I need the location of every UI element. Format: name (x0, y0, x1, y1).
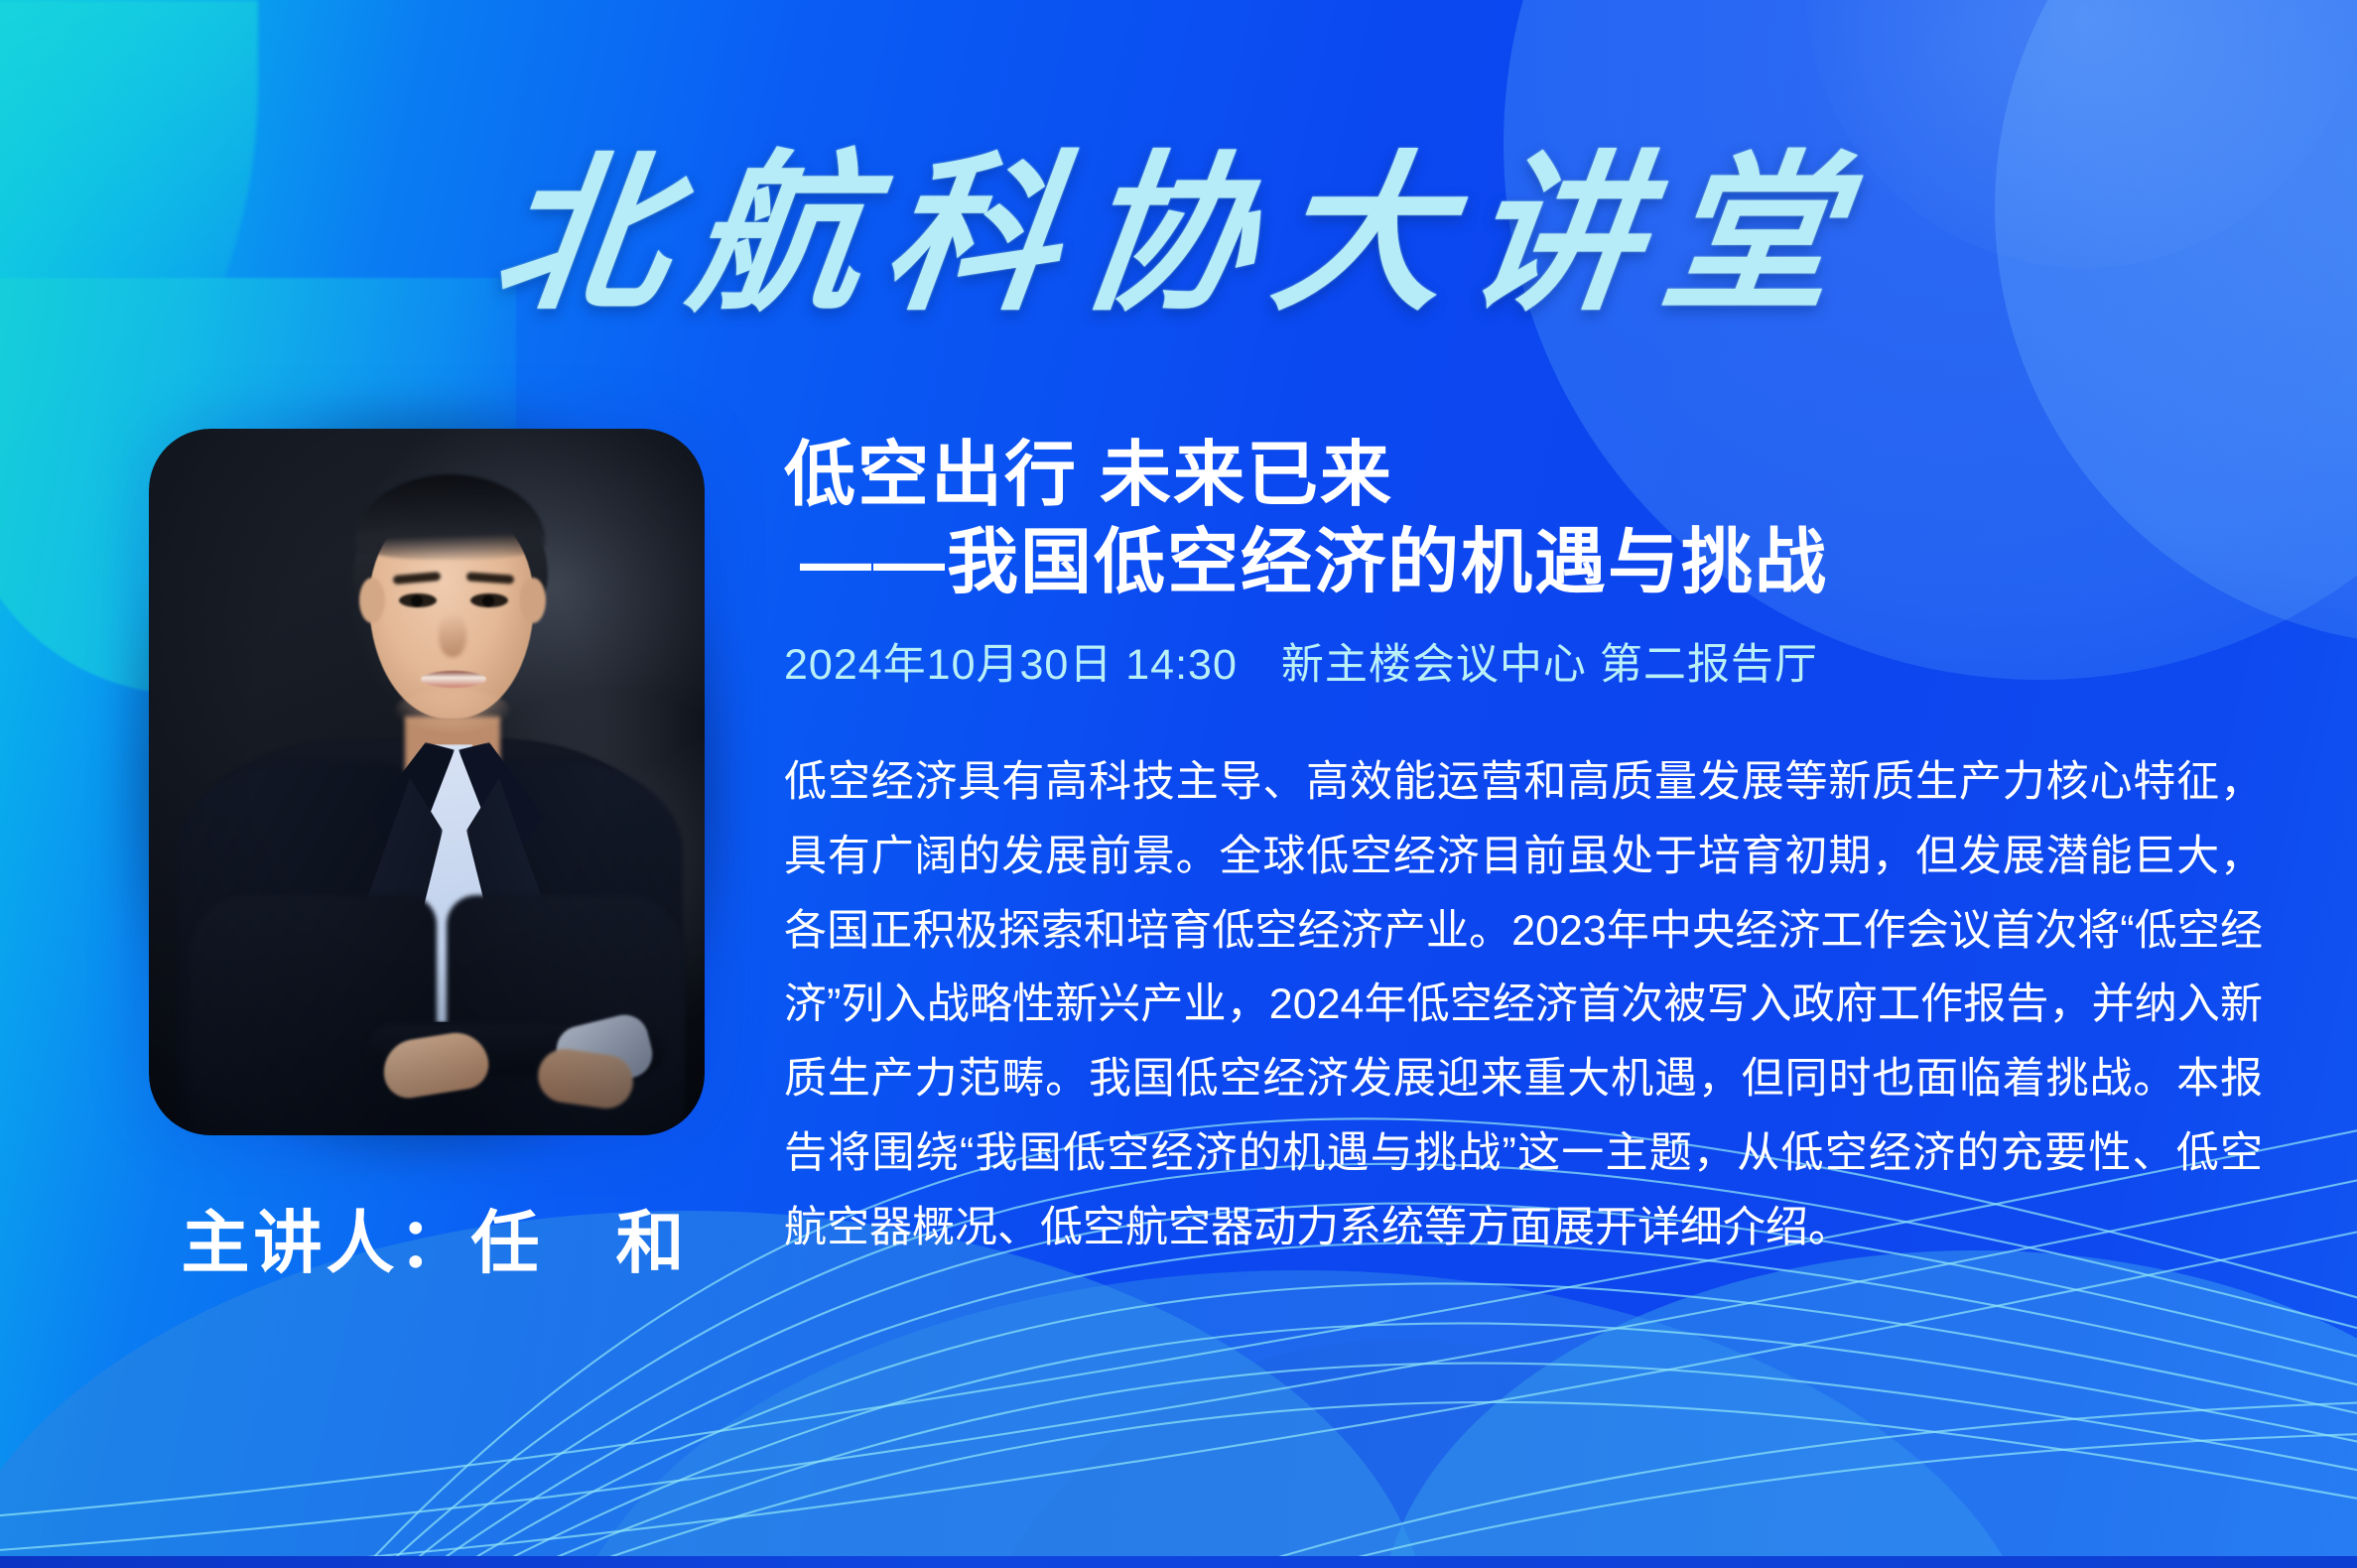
speaker-name-label: 主讲人：任 和 (117, 1187, 752, 1286)
bottom-wave-deep (953, 1340, 1846, 1568)
page-title: 北航科协大讲堂 (0, 149, 2357, 320)
bottom-wave-2 (556, 1270, 2044, 1568)
speaker-portrait (149, 429, 705, 1135)
lecture-abstract: 低空经济具有高科技主导、高效能运营和高质量发展等新质生产力核心特征，具有广阔的发… (784, 745, 2263, 1265)
bottom-wave-3 (1379, 1250, 2357, 1568)
portrait-image (149, 429, 705, 1135)
portrait-vignette (149, 429, 705, 1135)
bottom-edge-strip (0, 1556, 2357, 1568)
lecture-poster: 北航科协大讲堂 (0, 0, 2357, 1568)
lecture-headline-line-1: 低空出行 未来已来 (784, 435, 2263, 518)
lecture-datetime-venue: 2024年10月30日 14:30 新主楼会议中心 第二报告厅 (784, 630, 2263, 692)
lecture-info-block: 低空出行 未来已来 ——我国低空经济的机遇与挑战 2024年10月30日 14:… (784, 435, 2263, 1265)
lecture-headline-line-2: ——我国低空经济的机遇与挑战 (784, 522, 2263, 605)
